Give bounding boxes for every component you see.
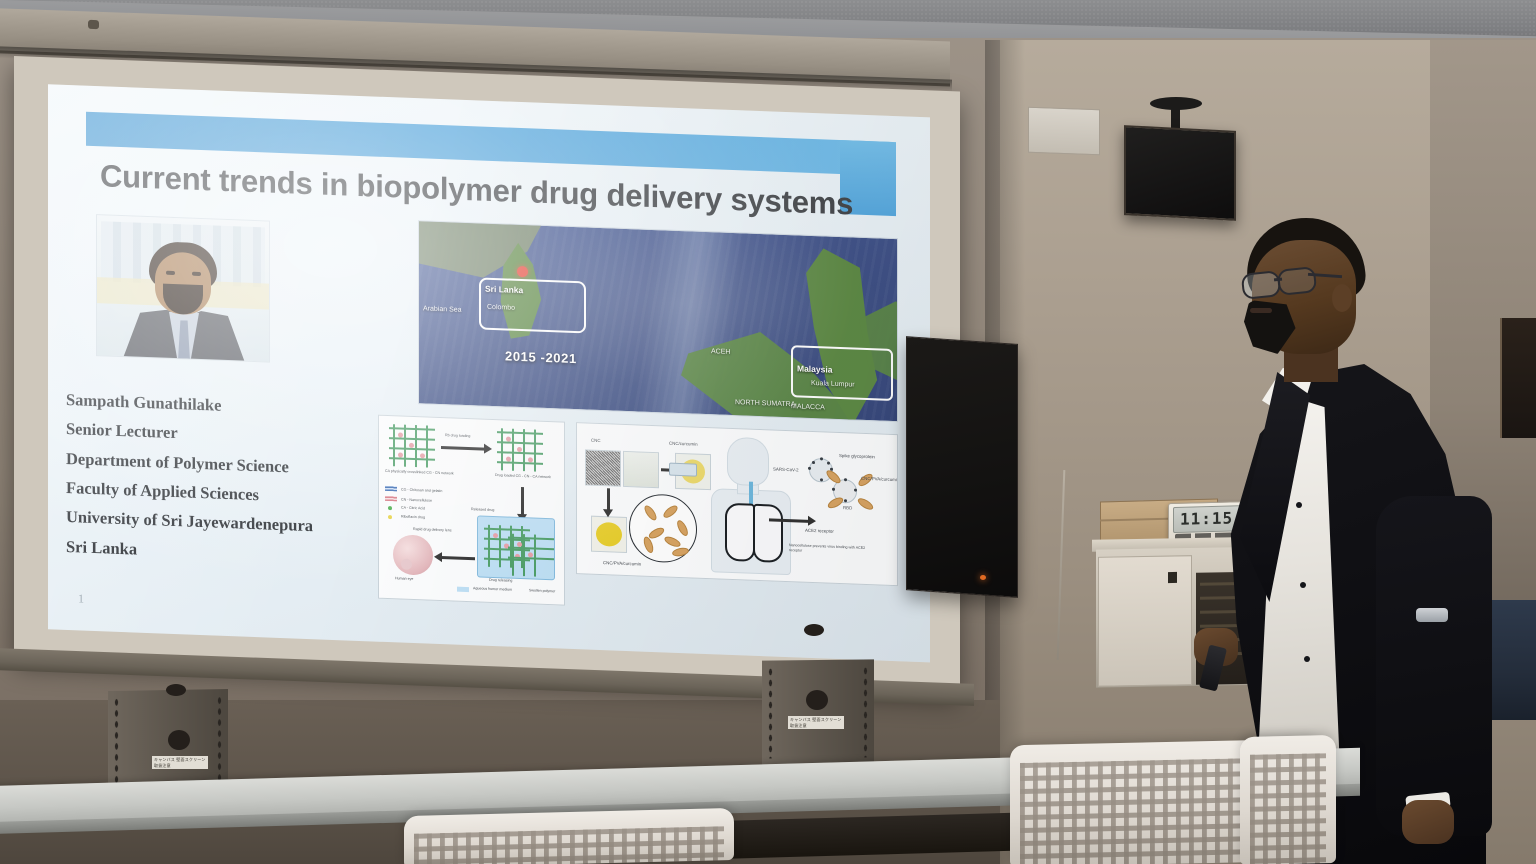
map-year-range-label: 2015 -2021 xyxy=(505,348,577,366)
lecture-chair[interactable] xyxy=(1240,735,1336,864)
label-nanocellulose-note: Nanocellulose prevents virus binding wit… xyxy=(789,543,875,556)
rail-label2-line2: 取扱注意 xyxy=(790,723,807,728)
cnc-film-sample xyxy=(623,451,659,488)
arrow-cnc-down xyxy=(607,488,610,510)
projected-slide: Current trends in biopolymer drug delive… xyxy=(48,84,930,662)
label-rbd: RBD xyxy=(843,505,852,511)
arrow-drug-loading xyxy=(441,446,485,451)
nanofiber-closeup-circle xyxy=(629,493,697,564)
label-rapid-delivery-lens: Rapid drug delivery lens xyxy=(413,527,452,533)
legend-label-cn: CN - Nanocellulose xyxy=(401,498,432,504)
label-cnc-curcumin: CNC/curcumin xyxy=(669,441,698,448)
projection-screen: Current trends in biopolymer drug delive… xyxy=(14,56,960,692)
presenter-wristwatch xyxy=(1416,608,1448,622)
presenter-arm xyxy=(1376,496,1492,836)
rail-label-line2: 取扱注意 xyxy=(154,763,171,768)
label-spike-glycoprotein: Spike glycoprotein xyxy=(839,453,875,460)
legend-dot-ca xyxy=(388,506,392,510)
author-affiliation-block: Sampath Gunathilake Senior Lecturer Depa… xyxy=(66,385,396,574)
label-human-eye: Human eye xyxy=(395,576,413,582)
human-eye-illustration xyxy=(393,534,433,576)
network-grid-2 xyxy=(497,428,543,472)
map-label-sri-lanka: Sri Lanka xyxy=(485,284,523,295)
rail-label2-line1: キャンバス 壁面スクリーン xyxy=(790,717,842,722)
rail-knob-left-top xyxy=(166,684,186,696)
legend-label-cg: CG - Chitosan and gelatin xyxy=(401,488,442,494)
label-cnc: CNC xyxy=(591,438,601,444)
legend-swatch-cn xyxy=(385,496,397,501)
label-swollen-polymer: Swollen polymer xyxy=(529,588,555,594)
cnc-pva-curcumin-sample xyxy=(591,516,627,553)
rail-knob-right xyxy=(806,690,828,710)
roller-end-cap xyxy=(88,20,99,29)
rail-knob-right-top xyxy=(804,624,824,636)
presenter-hand-right xyxy=(1402,800,1454,844)
legend-dot-riboflavin xyxy=(388,515,392,519)
presenter-portrait-photo xyxy=(96,214,270,363)
map-label-malacca: MALACCA xyxy=(791,403,825,411)
label-drug-releasing: Drug releasing xyxy=(489,578,512,584)
label-ace2-receptor: ACE2 receptor xyxy=(805,528,834,535)
standby-led-indicator xyxy=(980,575,986,580)
legend-swatch-cg xyxy=(385,486,397,491)
cnc-curcumin-lung-delivery-diagram: CNC CNC/curcumin CNC/PVA/curcumin xyxy=(576,422,898,586)
label-sars-cov-2: SARS-CoV-2 xyxy=(773,466,799,473)
wall-mount-rail-right xyxy=(762,659,874,764)
hydrogel-drug-delivery-diagram: Rb drug loading CA physically crosslinke… xyxy=(378,415,565,606)
lung-left xyxy=(725,503,755,562)
presenter-mouth xyxy=(1250,308,1272,313)
cabinet-door[interactable] xyxy=(1098,555,1192,687)
inhaler-device xyxy=(669,463,697,477)
map-label-malaysia: Malaysia xyxy=(797,363,832,374)
caption-crosslinked-network: CA physically crosslinked CG - CN networ… xyxy=(385,469,459,477)
map-label-arabian-sea: Arabian Sea xyxy=(423,305,462,313)
arrow-to-eye xyxy=(441,556,475,560)
lung-right xyxy=(753,504,783,563)
legend-label-aqueous: Aqueous humor medium xyxy=(473,586,512,592)
human-torso-illustration xyxy=(705,436,793,573)
cnc-micrograph xyxy=(585,449,621,486)
slide-number: 1 xyxy=(78,591,84,606)
rail-caution-label-left: キャンバス 壁面スクリーン 取扱注意 xyxy=(152,756,208,769)
legend-label-riboflavin: Riboflavin drug xyxy=(401,515,425,521)
arrow-to-gel xyxy=(521,487,524,515)
wall-junction-box xyxy=(1028,107,1100,156)
presenter-ear xyxy=(1332,284,1352,312)
network-grid-1 xyxy=(389,424,435,468)
lecture-chair[interactable] xyxy=(404,808,734,864)
lecture-room-photo: Current trends in biopolymer drug delive… xyxy=(0,0,1536,864)
label-released-drug: Released drug xyxy=(471,507,494,513)
map-marker-colombo xyxy=(517,266,528,277)
speaker-mount-arm xyxy=(1171,106,1180,130)
aqueous-gel-panel xyxy=(477,515,555,580)
map-label-colombo: Colombo xyxy=(487,304,515,312)
wall-display-panel[interactable] xyxy=(906,336,1018,598)
legend-label-ca: CA - Citric Acid xyxy=(401,506,425,512)
label-cnc-pva-curcumin: CNC/PVA/curcumin xyxy=(603,560,641,567)
caption-drug-loaded-network: Drug loaded CG - CN - CA network xyxy=(495,473,563,480)
label-drug-loading: Rb drug loading xyxy=(445,433,470,439)
rail-caution-label-right: キャンバス 壁面スクリーン 取扱注意 xyxy=(788,716,844,729)
map-label-aceh: ACEH xyxy=(711,348,730,356)
rail-knob-left xyxy=(168,730,190,750)
rail-label-line1: キャンバス 壁面スクリーン xyxy=(154,757,206,762)
region-map-image: Sri Lanka Colombo Malaysia Kuala Lumpur … xyxy=(418,220,898,422)
cabinet-handle[interactable] xyxy=(1168,572,1177,583)
legend-swatch-aqueous xyxy=(457,587,469,592)
